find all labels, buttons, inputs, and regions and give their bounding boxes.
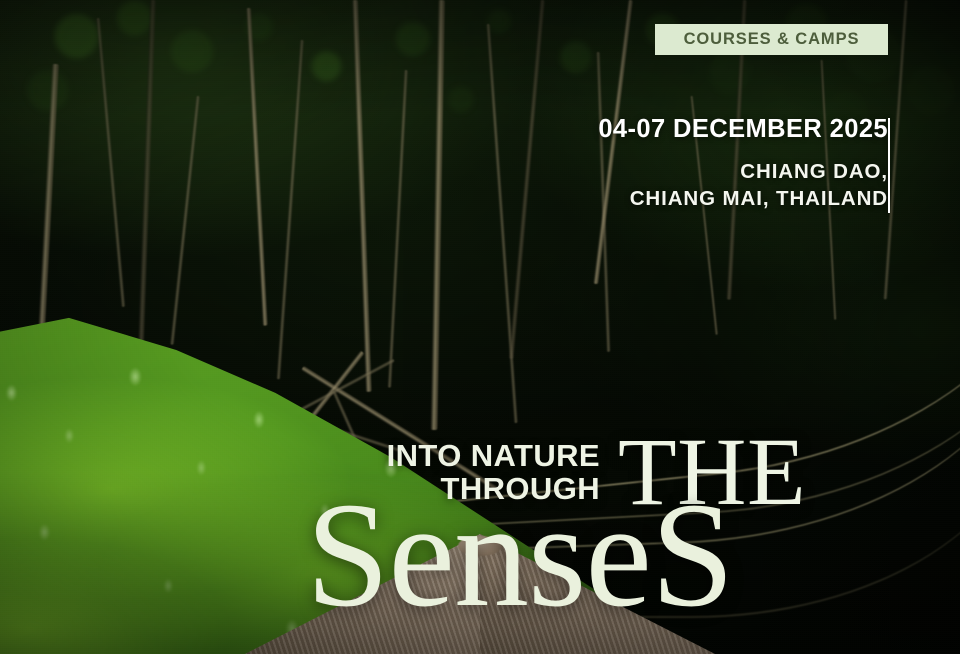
headline-kicker-line-1: INTO NATURE xyxy=(387,440,600,473)
poster-canvas: COURSES & CAMPS 04-07 DECEMBER 2025 CHIA… xyxy=(0,0,960,654)
poster-content: COURSES & CAMPS 04-07 DECEMBER 2025 CHIA… xyxy=(0,0,960,654)
headline-block: INTO NATURE THROUGH THE SenseS xyxy=(0,0,960,654)
headline-serif-senses: SenseS xyxy=(306,480,733,630)
